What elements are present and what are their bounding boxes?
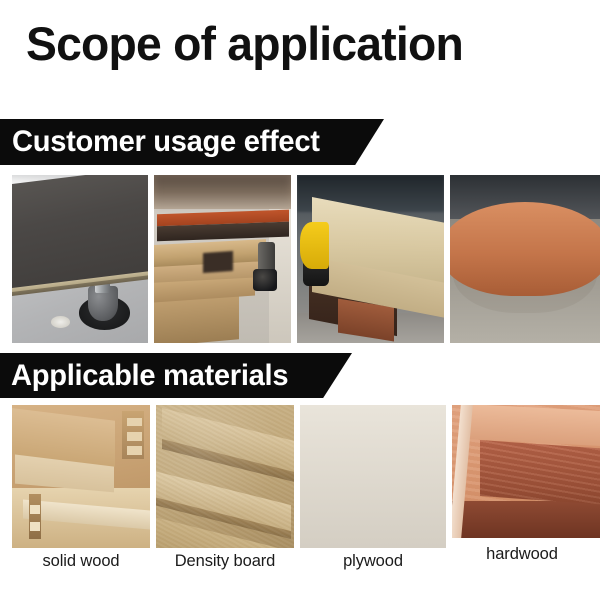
photo-timber-beam-yellow-clamp: [297, 175, 444, 343]
material-caption-solid-wood: solid wood: [12, 552, 150, 571]
material-caption-plywood: plywood: [300, 552, 446, 571]
page-title: Scope of application: [26, 16, 578, 72]
applicable-materials-photo-row: [12, 405, 600, 548]
section-banner-customer-usage-effect: Customer usage effect: [0, 119, 384, 165]
material-caption-hardwood: hardwood: [444, 545, 600, 564]
photo-dark-laminate-panel-router-table: [12, 175, 148, 343]
photo-curved-red-board-router: [450, 175, 600, 343]
material-photo-plywood: [300, 405, 446, 548]
material-photo-solid-wood: [12, 405, 150, 548]
section-banner-label: Applicable materials: [11, 361, 288, 391]
material-caption-density-board: Density board: [156, 552, 294, 571]
photo-layered-boards-router-bearing: [154, 175, 291, 343]
section-banner-applicable-materials: Applicable materials: [0, 353, 352, 398]
section-banner-label: Customer usage effect: [12, 127, 320, 157]
material-photo-density-board: [156, 405, 294, 548]
scope-of-application-page: Scope of application Customer usage effe…: [0, 0, 600, 600]
material-photo-hardwood: [452, 405, 600, 538]
customer-usage-photo-row: [12, 175, 600, 343]
